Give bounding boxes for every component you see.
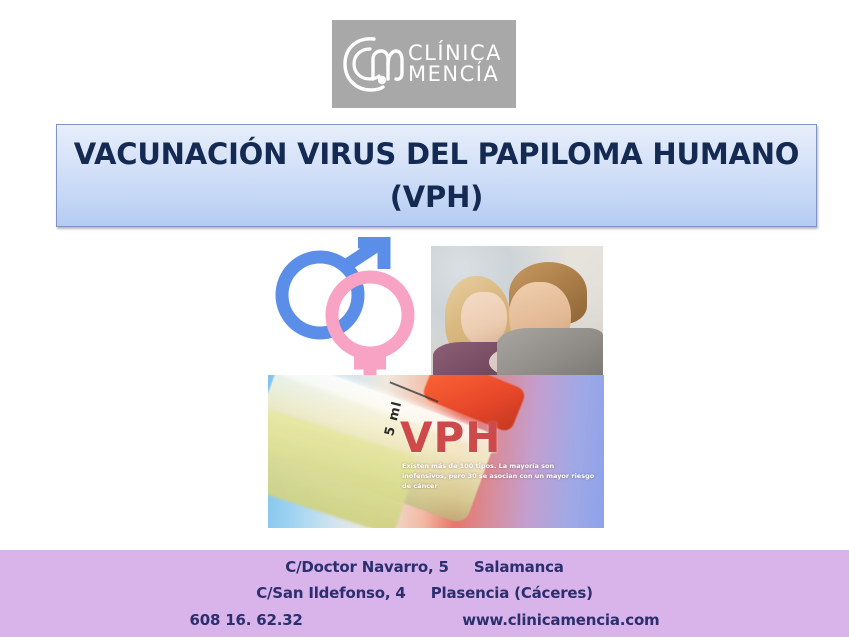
male-female-symbols-icon [268, 237, 428, 377]
clinic-logo: CLÍNICA MENCÍA [332, 20, 516, 108]
logo-line-1: CLÍNICA [408, 43, 502, 64]
vph-heading: VPH [400, 413, 501, 462]
vph-caption: Existen más de 100 tipos. La mayoría son… [402, 461, 598, 491]
footer-phone: 608 16. 62.32 [190, 607, 303, 633]
man-clothing [497, 328, 603, 375]
clinica-mencia-monogram-icon [340, 33, 404, 95]
title-line-2: (VPH) [74, 176, 800, 218]
footer-website[interactable]: www.clinicamencia.com [462, 607, 659, 633]
title-line-1: VACUNACIÓN VIRUS DEL PAPILOMA HUMANO [74, 133, 800, 175]
gender-symbols-image [268, 237, 428, 377]
title-banner: VACUNACIÓN VIRUS DEL PAPILOMA HUMANO (VP… [56, 124, 817, 227]
footer-address-2: C/San Ildefonso, 4 Plasencia (Cáceres) [256, 580, 593, 606]
couple-photo [431, 246, 603, 375]
page-title: VACUNACIÓN VIRUS DEL PAPILOMA HUMANO (VP… [60, 133, 814, 217]
logo-line-2: MENCÍA [408, 64, 502, 85]
footer-phone-and-web: 608 16. 62.32 www.clinicamencia.com [190, 607, 660, 633]
footer-contact-band: C/Doctor Navarro, 5 Salamanca C/San Ilde… [0, 550, 849, 637]
logo-wordmark: CLÍNICA MENCÍA [408, 43, 502, 85]
footer-address-1: C/Doctor Navarro, 5 Salamanca [285, 554, 563, 580]
vph-banner-image: 5 ml VPH Existen más de 100 tipos. La ma… [268, 375, 604, 528]
